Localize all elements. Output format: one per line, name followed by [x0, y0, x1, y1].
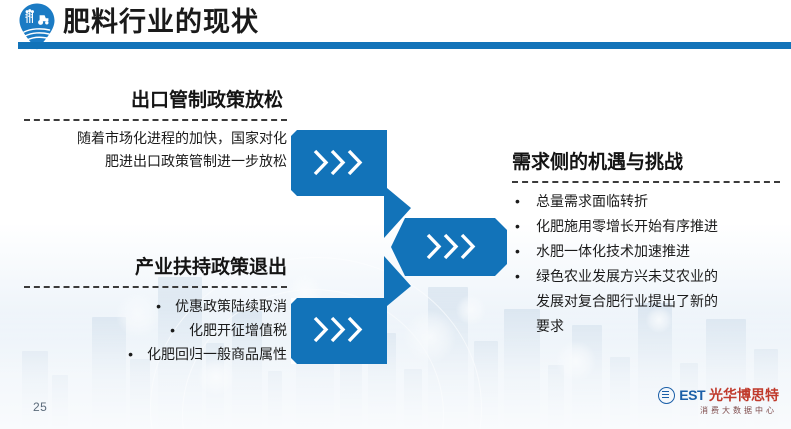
brand-name-en: EST [679, 388, 705, 403]
list-item-label: 优惠政策陆续取消 [175, 298, 287, 314]
list-item-label-cont-1: 发展对复合肥行业提出了新的 [536, 289, 780, 314]
panel-industry-title: 产业扶持政策退出 [24, 255, 287, 281]
panel-export-policy: 出口管制政策放松 随着市场化进程的加快，国家对化 肥进出口政策管制进一步放松 [24, 88, 287, 173]
bullet-dot-icon: • [515, 239, 520, 264]
best-circle-logo-icon [658, 387, 675, 404]
bullet-dot-icon: • [170, 322, 175, 338]
slide-header: 肥料行业的现状 [0, 0, 791, 56]
panel-demand-title: 需求侧的机遇与挑战 [512, 150, 780, 176]
list-item-label: 总量需求面临转折 [536, 193, 648, 209]
list-item: • 总量需求面临转折 [512, 189, 780, 214]
panel-industry-support: 产业扶持政策退出 •优惠政策陆续取消 •化肥开征增值税 •化肥回归一般商品属性 [24, 255, 287, 366]
bullet-dot-icon: • [515, 264, 520, 289]
panel-export-line-1: 随着市场化进程的加快，国家对化 [24, 127, 287, 150]
page-number: 25 [33, 400, 47, 414]
list-item-label: 化肥施用零增长开始有序推进 [536, 218, 718, 234]
panel-demand-side: 需求侧的机遇与挑战 • 总量需求面临转折 • 化肥施用零增长开始有序推进 • 水… [512, 150, 780, 339]
list-item-label-cont-2: 要求 [536, 314, 780, 339]
list-item: • 化肥施用零增长开始有序推进 [512, 214, 780, 239]
panel-export-title: 出口管制政策放松 [24, 88, 287, 114]
page-title: 肥料行业的现状 [63, 4, 259, 40]
brand-logo: EST 光华博思特 消费大数据中心 [631, 385, 779, 421]
panel-industry-divider [24, 286, 287, 288]
bullet-dot-icon: • [156, 298, 161, 314]
panel-export-line-2: 肥进出口政策管制进一步放松 [24, 150, 287, 173]
panel-industry-bullet-list: •优惠政策陆续取消 •化肥开征增值税 •化肥回归一般商品属性 [24, 294, 287, 366]
list-item: •化肥开征增值税 [24, 318, 287, 342]
list-item-label: 水肥一体化技术加速推进 [536, 243, 690, 259]
list-item: • 水肥一体化技术加速推进 [512, 239, 780, 264]
panel-demand-bullet-list: • 总量需求面临转折 • 化肥施用零增长开始有序推进 • 水肥一体化技术加速推进… [512, 189, 780, 339]
brand-tagline: 消费大数据中心 [631, 405, 779, 417]
list-item-label: 化肥开征增值税 [189, 322, 287, 338]
list-item: •化肥回归一般商品属性 [24, 342, 287, 366]
panel-demand-divider [512, 181, 780, 183]
brand-name-cn: 光华博思特 [709, 388, 779, 403]
list-item: •优惠政策陆续取消 [24, 294, 287, 318]
slide-canvas: 肥料行业的现状 出口管制政策放松 随着市场化进程的加快，国家对化 肥进出口政策管… [0, 0, 791, 429]
header-divider-bar [18, 42, 791, 49]
bullet-dot-icon: • [128, 346, 133, 362]
panel-export-divider [24, 119, 287, 121]
list-item-label: 化肥回归一般商品属性 [147, 346, 287, 362]
merging-chevron-arrows-graphic [283, 126, 515, 368]
list-item: • 绿色农业发展方兴未艾农业的 发展对复合肥行业提出了新的 要求 [512, 264, 780, 339]
list-item-label: 绿色农业发展方兴未艾农业的 [536, 268, 718, 284]
bullet-dot-icon: • [515, 214, 520, 239]
bullet-dot-icon: • [515, 189, 520, 214]
